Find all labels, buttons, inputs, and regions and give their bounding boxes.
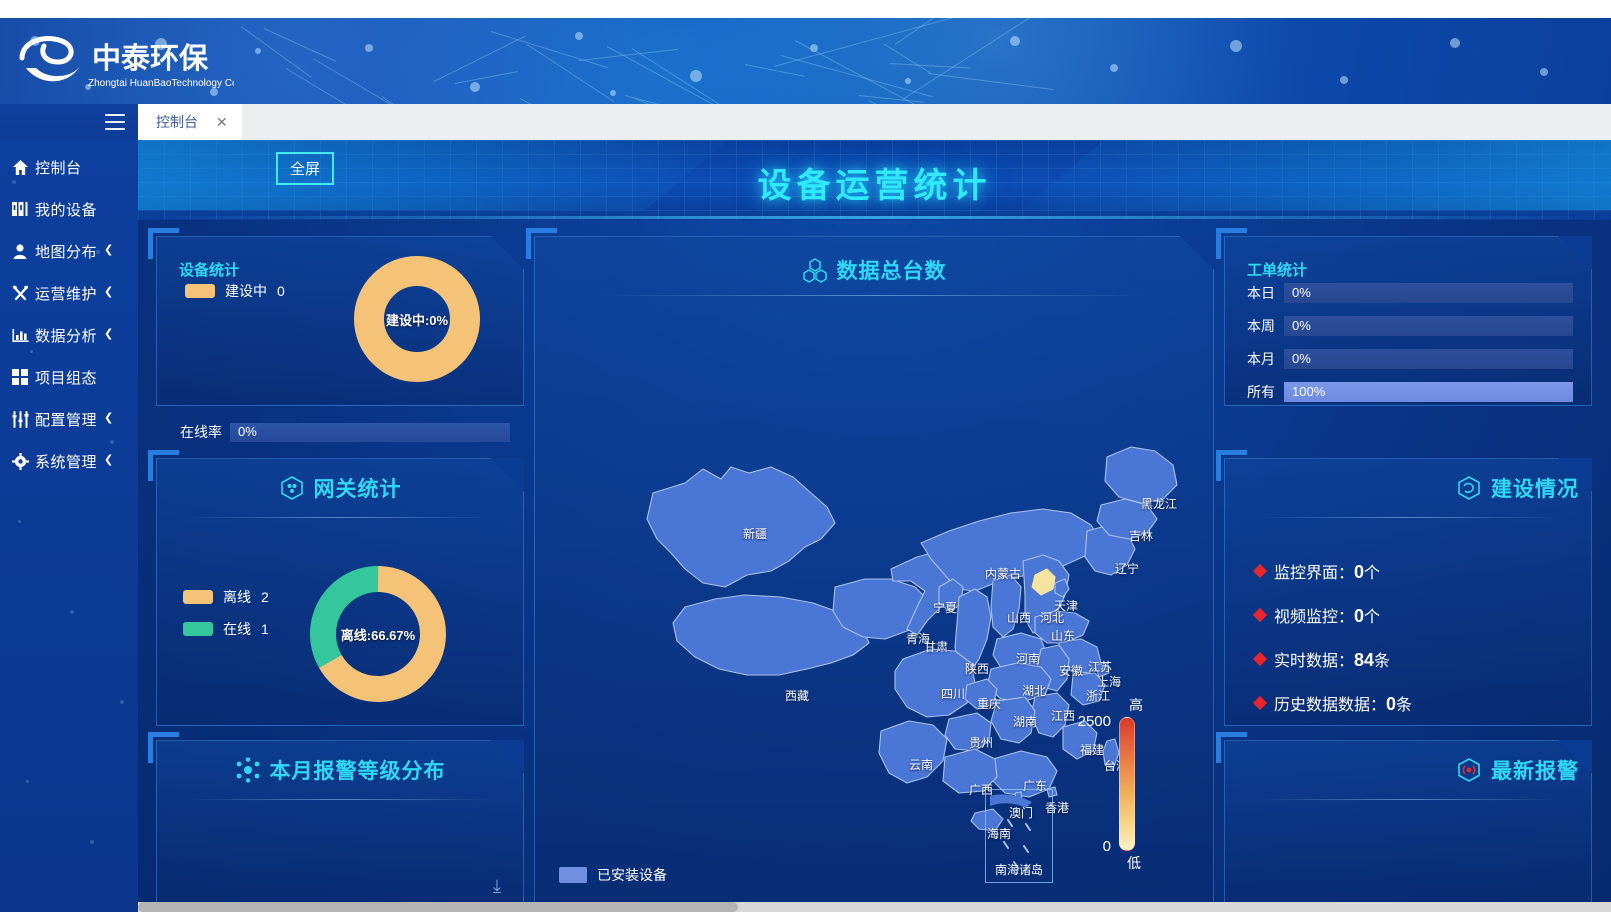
legend-swatch-building xyxy=(185,284,215,298)
online-rate-value: 0% xyxy=(238,424,257,439)
work-order-row-label: 本周 xyxy=(1247,316,1275,336)
sidebar-item-data-analysis[interactable]: 数据分析 ❮ xyxy=(0,314,138,356)
chevron-left-icon: ❮ xyxy=(104,329,113,340)
sidebar-item-label: 我的设备 xyxy=(35,199,97,220)
sidebar-item-label: 项目组态 xyxy=(35,367,97,388)
alarm-burst-icon xyxy=(235,757,261,783)
page-title: 设备运营统计 xyxy=(138,158,1611,207)
sidebar-item-label: 运营维护 xyxy=(35,283,97,304)
sidebar-item-label: 配置管理 xyxy=(35,409,97,430)
legend-value: 0 xyxy=(277,283,285,299)
donut-center-label: 离线:66.67% xyxy=(305,561,451,707)
province-label-吉林: 吉林 xyxy=(1129,527,1153,544)
work-order-row-bar: 0% xyxy=(1284,316,1573,336)
alarm-level-distribution-panel: 本月报警等级分布 ⤓ xyxy=(156,740,524,902)
gateway-panel-header: 网关统计 xyxy=(157,473,523,503)
work-order-row: 本日0% xyxy=(1247,283,1573,303)
panel-divider xyxy=(190,517,490,518)
sidebar-item-label: 数据分析 xyxy=(35,325,97,346)
legend-swatch-installed-devices xyxy=(559,867,587,883)
alarm-panel-title: 本月报警等级分布 xyxy=(270,755,446,785)
tools-icon xyxy=(5,285,35,302)
province-label-安徽: 安徽 xyxy=(1059,662,1083,679)
build-item-text: 监控界面：0个 xyxy=(1274,559,1380,583)
hex-alarm-icon xyxy=(1456,757,1482,783)
latest-alarm-title: 最新报警 xyxy=(1491,755,1579,785)
build-item: 视频监控：0个 xyxy=(1255,603,1412,627)
online-rate-label: 在线率 xyxy=(180,422,222,442)
sidebar-item-label: 系统管理 xyxy=(35,451,97,472)
chevron-left-icon: ❮ xyxy=(104,455,113,466)
work-order-row-bar: 100% xyxy=(1284,382,1573,402)
device-icon xyxy=(5,201,35,217)
tab-label: 控制台 xyxy=(156,112,198,132)
province-label-西藏: 西藏 xyxy=(785,687,809,704)
province-label-湖北: 湖北 xyxy=(1022,682,1046,699)
map-color-scale: 高 2500 0 低 xyxy=(1061,695,1157,873)
sidebar-item-system-management[interactable]: 系统管理 ❮ xyxy=(0,440,138,482)
brand-header: 中泰环保 Zhongtai HuanBaoTechnology Co., Ltd xyxy=(0,18,1611,104)
panel-divider xyxy=(190,799,490,800)
province-label-重庆: 重庆 xyxy=(977,695,1001,712)
province-label-贵州: 贵州 xyxy=(969,734,993,751)
sliders-icon xyxy=(5,411,35,428)
map-panel-header: 数据总台数 xyxy=(535,255,1213,285)
home-icon xyxy=(5,159,35,176)
map-pin-icon xyxy=(5,243,35,260)
scale-gradient-bar xyxy=(1119,717,1135,851)
device-statistics-panel: 设备统计 建设中 0 建设中:0% xyxy=(156,236,524,406)
work-order-row-bar: 0% xyxy=(1284,349,1573,369)
gateway-legend-item-online: 在线 1 xyxy=(183,619,269,639)
scale-high-label: 高 xyxy=(1129,695,1143,715)
gateway-legend: 离线 2 在线 1 xyxy=(183,587,269,651)
diamond-bullet-icon xyxy=(1253,608,1267,622)
diamond-bullet-icon xyxy=(1253,696,1267,710)
banner-underline xyxy=(138,216,1611,219)
nanhai-islands-label: 南海诸岛 xyxy=(986,861,1052,878)
map-legend-label: 已安装设备 xyxy=(597,865,667,885)
nanhai-islands-inset: 南海诸岛 xyxy=(985,789,1053,883)
panel-divider xyxy=(1258,799,1558,800)
bar-chart-icon xyxy=(5,327,35,343)
work-order-row-bar: 0% xyxy=(1284,283,1573,303)
gateway-donut-chart: 离线:66.67% xyxy=(305,561,451,707)
chevron-left-icon: ❮ xyxy=(104,245,113,256)
brand-name-en: Zhongtai HuanBaoTechnology Co., Ltd xyxy=(88,78,234,89)
horizontal-scrollbar[interactable] xyxy=(138,902,1611,912)
dashboard-banner: 设备运营统计 20 xyxy=(138,140,1611,220)
build-panel-header: 建设情况 xyxy=(1225,473,1591,503)
province-label-宁夏: 宁夏 xyxy=(933,599,957,616)
dashboard-app: 中泰环保 Zhongtai HuanBaoTechnology Co., Ltd… xyxy=(0,0,1611,912)
work-order-row-label: 本日 xyxy=(1247,283,1275,303)
panel-corner-decoration xyxy=(490,236,524,270)
work-order-row-value: 100% xyxy=(1292,384,1325,399)
work-order-row: 所有100% xyxy=(1247,382,1573,402)
diamond-bullet-icon xyxy=(1253,652,1267,666)
gear-icon xyxy=(5,453,35,470)
province-label-河北: 河北 xyxy=(1040,609,1064,626)
latest-alarm-panel: 最新报警 xyxy=(1224,740,1592,902)
scale-min-value: 0 xyxy=(1103,838,1111,855)
panel-corner-decoration xyxy=(1558,236,1592,270)
province-label-湖南: 湖南 xyxy=(1013,713,1037,730)
latest-alarm-header: 最新报警 xyxy=(1225,755,1591,785)
map-panel-title: 数据总台数 xyxy=(837,255,947,285)
hex-gateway-icon xyxy=(279,475,305,501)
sidebar-item-my-devices[interactable]: 我的设备 xyxy=(0,188,138,230)
legend-swatch-offline xyxy=(183,590,213,604)
province-label-河南: 河南 xyxy=(1016,650,1040,667)
hex-build-icon xyxy=(1456,475,1482,501)
build-items-list: 监控界面：0个视频监控：0个实时数据：84条历史数据数据：0条 xyxy=(1255,559,1412,735)
gateway-legend-item-offline: 离线 2 xyxy=(183,587,269,607)
sidebar-toggle-area xyxy=(0,104,138,140)
province-label-山东: 山东 xyxy=(1051,627,1075,644)
work-order-row: 本周0% xyxy=(1247,316,1573,336)
province-label-四川: 四川 xyxy=(941,685,965,702)
province-label-黑龙江: 黑龙江 xyxy=(1141,495,1177,512)
hex-cluster-icon xyxy=(802,257,828,283)
scale-max-value: 2500 xyxy=(1078,713,1111,730)
sidebar-item-map-distribution[interactable]: 地图分布 ❮ xyxy=(0,230,138,272)
build-item-text: 历史数据数据：0条 xyxy=(1274,691,1412,715)
province-label-内蒙古: 内蒙古 xyxy=(985,565,1021,582)
province-label-新疆: 新疆 xyxy=(743,525,767,542)
province-label-云南: 云南 xyxy=(909,756,933,773)
sidebar-item-operation-maintenance[interactable]: 运营维护 ❮ xyxy=(0,272,138,314)
province-label-辽宁: 辽宁 xyxy=(1115,560,1139,577)
sidebar-item-label: 控制台 xyxy=(35,157,82,178)
work-order-row-value: 0% xyxy=(1292,318,1311,333)
work-order-row-value: 0% xyxy=(1292,351,1311,366)
build-item: 历史数据数据：0条 xyxy=(1255,691,1412,715)
tab-console[interactable]: 控制台 ✕ xyxy=(138,104,242,140)
build-item: 实时数据：84条 xyxy=(1255,647,1412,671)
work-order-row-label: 所有 xyxy=(1247,382,1275,402)
sidebar-nav: 控制台 我的设备 xyxy=(0,140,138,912)
device-legend-item: 建设中 0 xyxy=(185,281,285,301)
scale-low-label: 低 xyxy=(1127,853,1141,873)
map-legend: 已安装设备 xyxy=(559,865,667,885)
scrollbar-thumb[interactable] xyxy=(138,902,738,912)
legend-value: 2 xyxy=(261,589,269,605)
alarm-panel-header: 本月报警等级分布 xyxy=(157,755,523,785)
legend-label: 建设中 xyxy=(225,281,267,301)
province-label-山西: 山西 xyxy=(1007,609,1031,626)
brand-name-cn: 中泰环保 xyxy=(92,42,209,75)
close-icon[interactable]: ✕ xyxy=(216,115,228,129)
sidebar-item-config-management[interactable]: 配置管理 ❮ xyxy=(0,398,138,440)
province-label-陕西: 陕西 xyxy=(965,660,989,677)
diamond-bullet-icon xyxy=(1253,564,1267,578)
online-rate-row: 在线率 0% xyxy=(180,422,510,442)
province-label-甘肃: 甘肃 xyxy=(924,638,948,655)
legend-value: 1 xyxy=(261,621,269,637)
download-icon[interactable]: ⤓ xyxy=(493,876,501,897)
chevron-left-icon: ❮ xyxy=(104,287,113,298)
hamburger-icon[interactable] xyxy=(105,114,125,130)
dashboard-stage: 设备运营统计 20 全屏 设备统计 建设中 0 建设中:0% 在线率 xyxy=(138,140,1611,902)
legend-swatch-online xyxy=(183,622,213,636)
build-item-text: 视频监控：0个 xyxy=(1274,603,1380,627)
chevron-left-icon: ❮ xyxy=(104,413,113,424)
tab-bar: 控制台 ✕ xyxy=(0,104,1611,140)
panel-divider xyxy=(1258,517,1558,518)
sidebar-item-console[interactable]: 控制台 xyxy=(0,146,138,188)
work-order-row-value: 0% xyxy=(1292,285,1311,300)
device-statistics-title: 设备统计 xyxy=(179,259,239,280)
build-status-panel: 建设情况 监控界面：0个视频监控：0个实时数据：84条历史数据数据：0条 xyxy=(1224,458,1592,726)
gateway-statistics-panel: 网关统计 离线 2 在线 1 离线:6 xyxy=(156,458,524,726)
legend-label: 在线 xyxy=(223,619,251,639)
build-panel-title: 建设情况 xyxy=(1491,473,1579,503)
china-map-panel: 数据总台数 xyxy=(534,236,1214,902)
china-map-area[interactable]: 新疆黑龙江吉林辽宁内蒙古天津宁夏山西河北山东青海甘肃河南陕西江苏安徽上海湖北浙江… xyxy=(535,307,1213,902)
device-donut-chart: 建设中:0% xyxy=(353,255,481,383)
brand-logo: 中泰环保 Zhongtai HuanBaoTechnology Co., Ltd xyxy=(14,28,234,98)
sidebar-item-project-configuration[interactable]: 项目组态 xyxy=(0,356,138,398)
work-order-row-label: 本月 xyxy=(1247,349,1275,369)
work-order-title: 工单统计 xyxy=(1247,259,1307,280)
gateway-panel-title: 网关统计 xyxy=(314,473,402,503)
fullscreen-button[interactable]: 全屏 xyxy=(276,152,334,185)
work-order-statistics-panel: 工单统计 本日0%本周0%本月0%所有100% xyxy=(1224,236,1592,406)
browser-chrome-strip xyxy=(0,0,1611,18)
work-order-row: 本月0% xyxy=(1247,349,1573,369)
sidebar-item-label: 地图分布 xyxy=(35,241,97,262)
panel-divider xyxy=(596,295,1152,296)
build-item: 监控界面：0个 xyxy=(1255,559,1412,583)
grid-icon xyxy=(5,369,35,385)
donut-center-label: 建设中:0% xyxy=(353,255,481,383)
online-rate-bar: 0% xyxy=(230,423,510,442)
legend-label: 离线 xyxy=(223,587,251,607)
build-item-text: 实时数据：84条 xyxy=(1274,647,1390,671)
